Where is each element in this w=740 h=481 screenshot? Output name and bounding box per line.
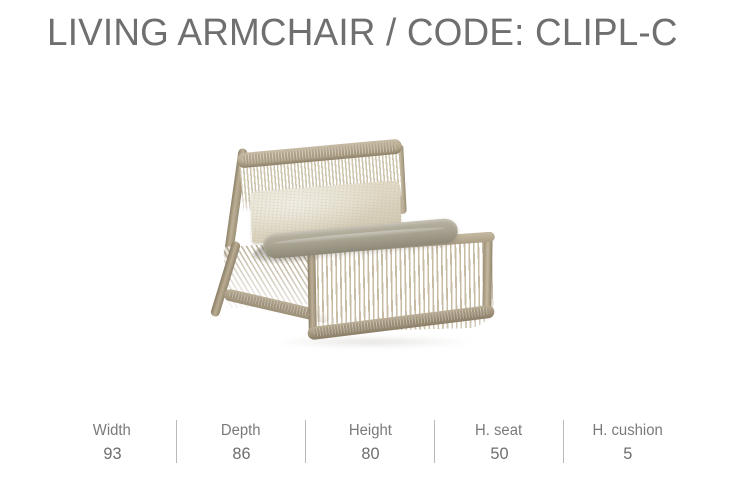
dimension-label: H. cushion xyxy=(593,420,663,442)
dimension-column-height: Height 80 xyxy=(306,415,434,471)
side-panel-right-post xyxy=(482,232,492,314)
product-image-stage xyxy=(0,62,740,392)
dimension-value: 86 xyxy=(232,442,250,465)
page-title: LIVING ARMCHAIR / CODE: CLIPL-C xyxy=(47,10,678,56)
dimensions-table: Width 93 Depth 86 Height 80 H. seat 50 H… xyxy=(48,415,692,471)
dimension-value: 5 xyxy=(623,442,632,465)
dimension-column-width: Width 93 xyxy=(48,415,176,471)
product-image-armchair xyxy=(215,140,515,355)
product-sheet-page: LIVING ARMCHAIR / CODE: CLIPL-C Width xyxy=(0,0,740,481)
dimension-column-depth: Depth 86 xyxy=(177,415,305,471)
dimension-label: H. seat xyxy=(475,420,522,442)
floor-shadow xyxy=(273,336,473,348)
dimension-value: 50 xyxy=(490,442,508,465)
dimension-label: Width xyxy=(93,420,131,442)
dimension-column-h-seat: H. seat 50 xyxy=(435,415,563,471)
dimension-value: 80 xyxy=(361,442,379,465)
dimension-label: Height xyxy=(348,420,391,442)
dimension-label: Depth xyxy=(221,420,261,442)
dimension-column-h-cushion: H. cushion 5 xyxy=(564,415,692,471)
dimension-value: 93 xyxy=(103,442,121,465)
